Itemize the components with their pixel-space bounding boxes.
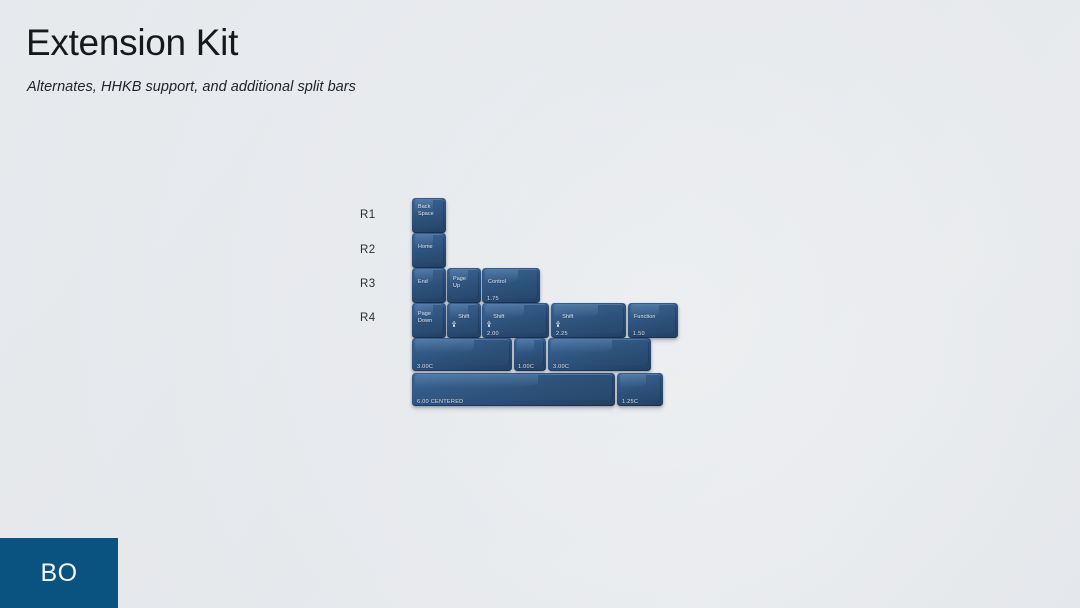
keycap-top-surface — [414, 374, 614, 399]
keycap-legend-group: Shift — [487, 314, 504, 321]
keycap-size-label: 3.00C — [553, 364, 569, 370]
keycap-legend: Shift — [562, 314, 573, 321]
shift-arrow-icon — [487, 314, 491, 320]
keycap-end[interactable]: End — [412, 268, 446, 303]
row-label-r4: R4 — [360, 312, 376, 324]
keycap-top-surface — [414, 339, 511, 364]
keycap-size-label: 1.00C — [518, 364, 534, 370]
keycap-shift-2-25[interactable]: Shift 2.25 — [551, 303, 626, 338]
keycap-top-surface — [516, 339, 545, 364]
row-label-r3: R3 — [360, 278, 376, 290]
keycap-shift-2-00[interactable]: Shift 2.00 — [482, 303, 549, 338]
keycap-split-bar-3-00c-right[interactable]: 3.00C — [548, 338, 651, 371]
keycap-size-label: 1.25C — [622, 399, 638, 405]
keycap-legend: Shift — [458, 314, 469, 321]
keycap-split-bar-3-00c-left[interactable]: 3.00C — [412, 338, 512, 371]
keycap-size-label: 3.00C — [417, 364, 433, 370]
shift-arrow-icon — [556, 314, 560, 320]
keycap-page-up[interactable]: Page Up — [447, 268, 481, 303]
keycap-control[interactable]: Control 1.75 — [482, 268, 540, 303]
keycap-size-label: 1.75 — [487, 296, 499, 302]
keycap-size-label: 6.00 CENTERED — [417, 399, 463, 405]
keycap-size-label: 2.25 — [556, 331, 568, 337]
row-label-r2: R2 — [360, 244, 376, 256]
keycap-1-25c[interactable]: 1.25C — [617, 373, 663, 406]
keycap-size-label: 2.00 — [487, 331, 499, 337]
keycap-legend: Back Space — [418, 204, 434, 217]
keycap-backspace[interactable]: Back Space — [412, 198, 446, 233]
keycap-legend: Page Down — [418, 311, 432, 324]
keycap-shift-1-75[interactable]: Shift — [447, 303, 481, 338]
keycap-spacebar-6-00-centered[interactable]: 6.00 CENTERED — [412, 373, 615, 406]
keycap-legend-group: Shift — [452, 314, 469, 321]
keycap-size-label: 1.50 — [633, 331, 645, 337]
keycap-legend: End — [418, 279, 428, 286]
keycap-legend: Shift — [493, 314, 504, 321]
keycap-function[interactable]: Function 1.50 — [628, 303, 678, 338]
brand-badge: BO — [0, 538, 118, 608]
keycap-legend: Page Up — [453, 276, 466, 289]
row-label-r1: R1 — [360, 209, 376, 221]
keycap-top-surface — [550, 339, 650, 364]
keycap-layout-stage: R1 R2 R3 R4 Back Space Home End Page Up … — [0, 0, 1080, 608]
keycap-legend: Function — [634, 314, 655, 321]
keycap-top-surface — [619, 374, 662, 399]
keycap-legend: Control — [488, 279, 506, 286]
brand-badge-label: BO — [40, 559, 77, 588]
keycap-legend-group: Shift — [556, 314, 573, 321]
shift-arrow-icon — [452, 314, 456, 320]
keycap-home[interactable]: Home — [412, 233, 446, 268]
keycap-split-bar-1-00c[interactable]: 1.00C — [514, 338, 546, 371]
keycap-page-down[interactable]: Page Down — [412, 303, 446, 338]
keycap-legend: Home — [418, 244, 433, 251]
